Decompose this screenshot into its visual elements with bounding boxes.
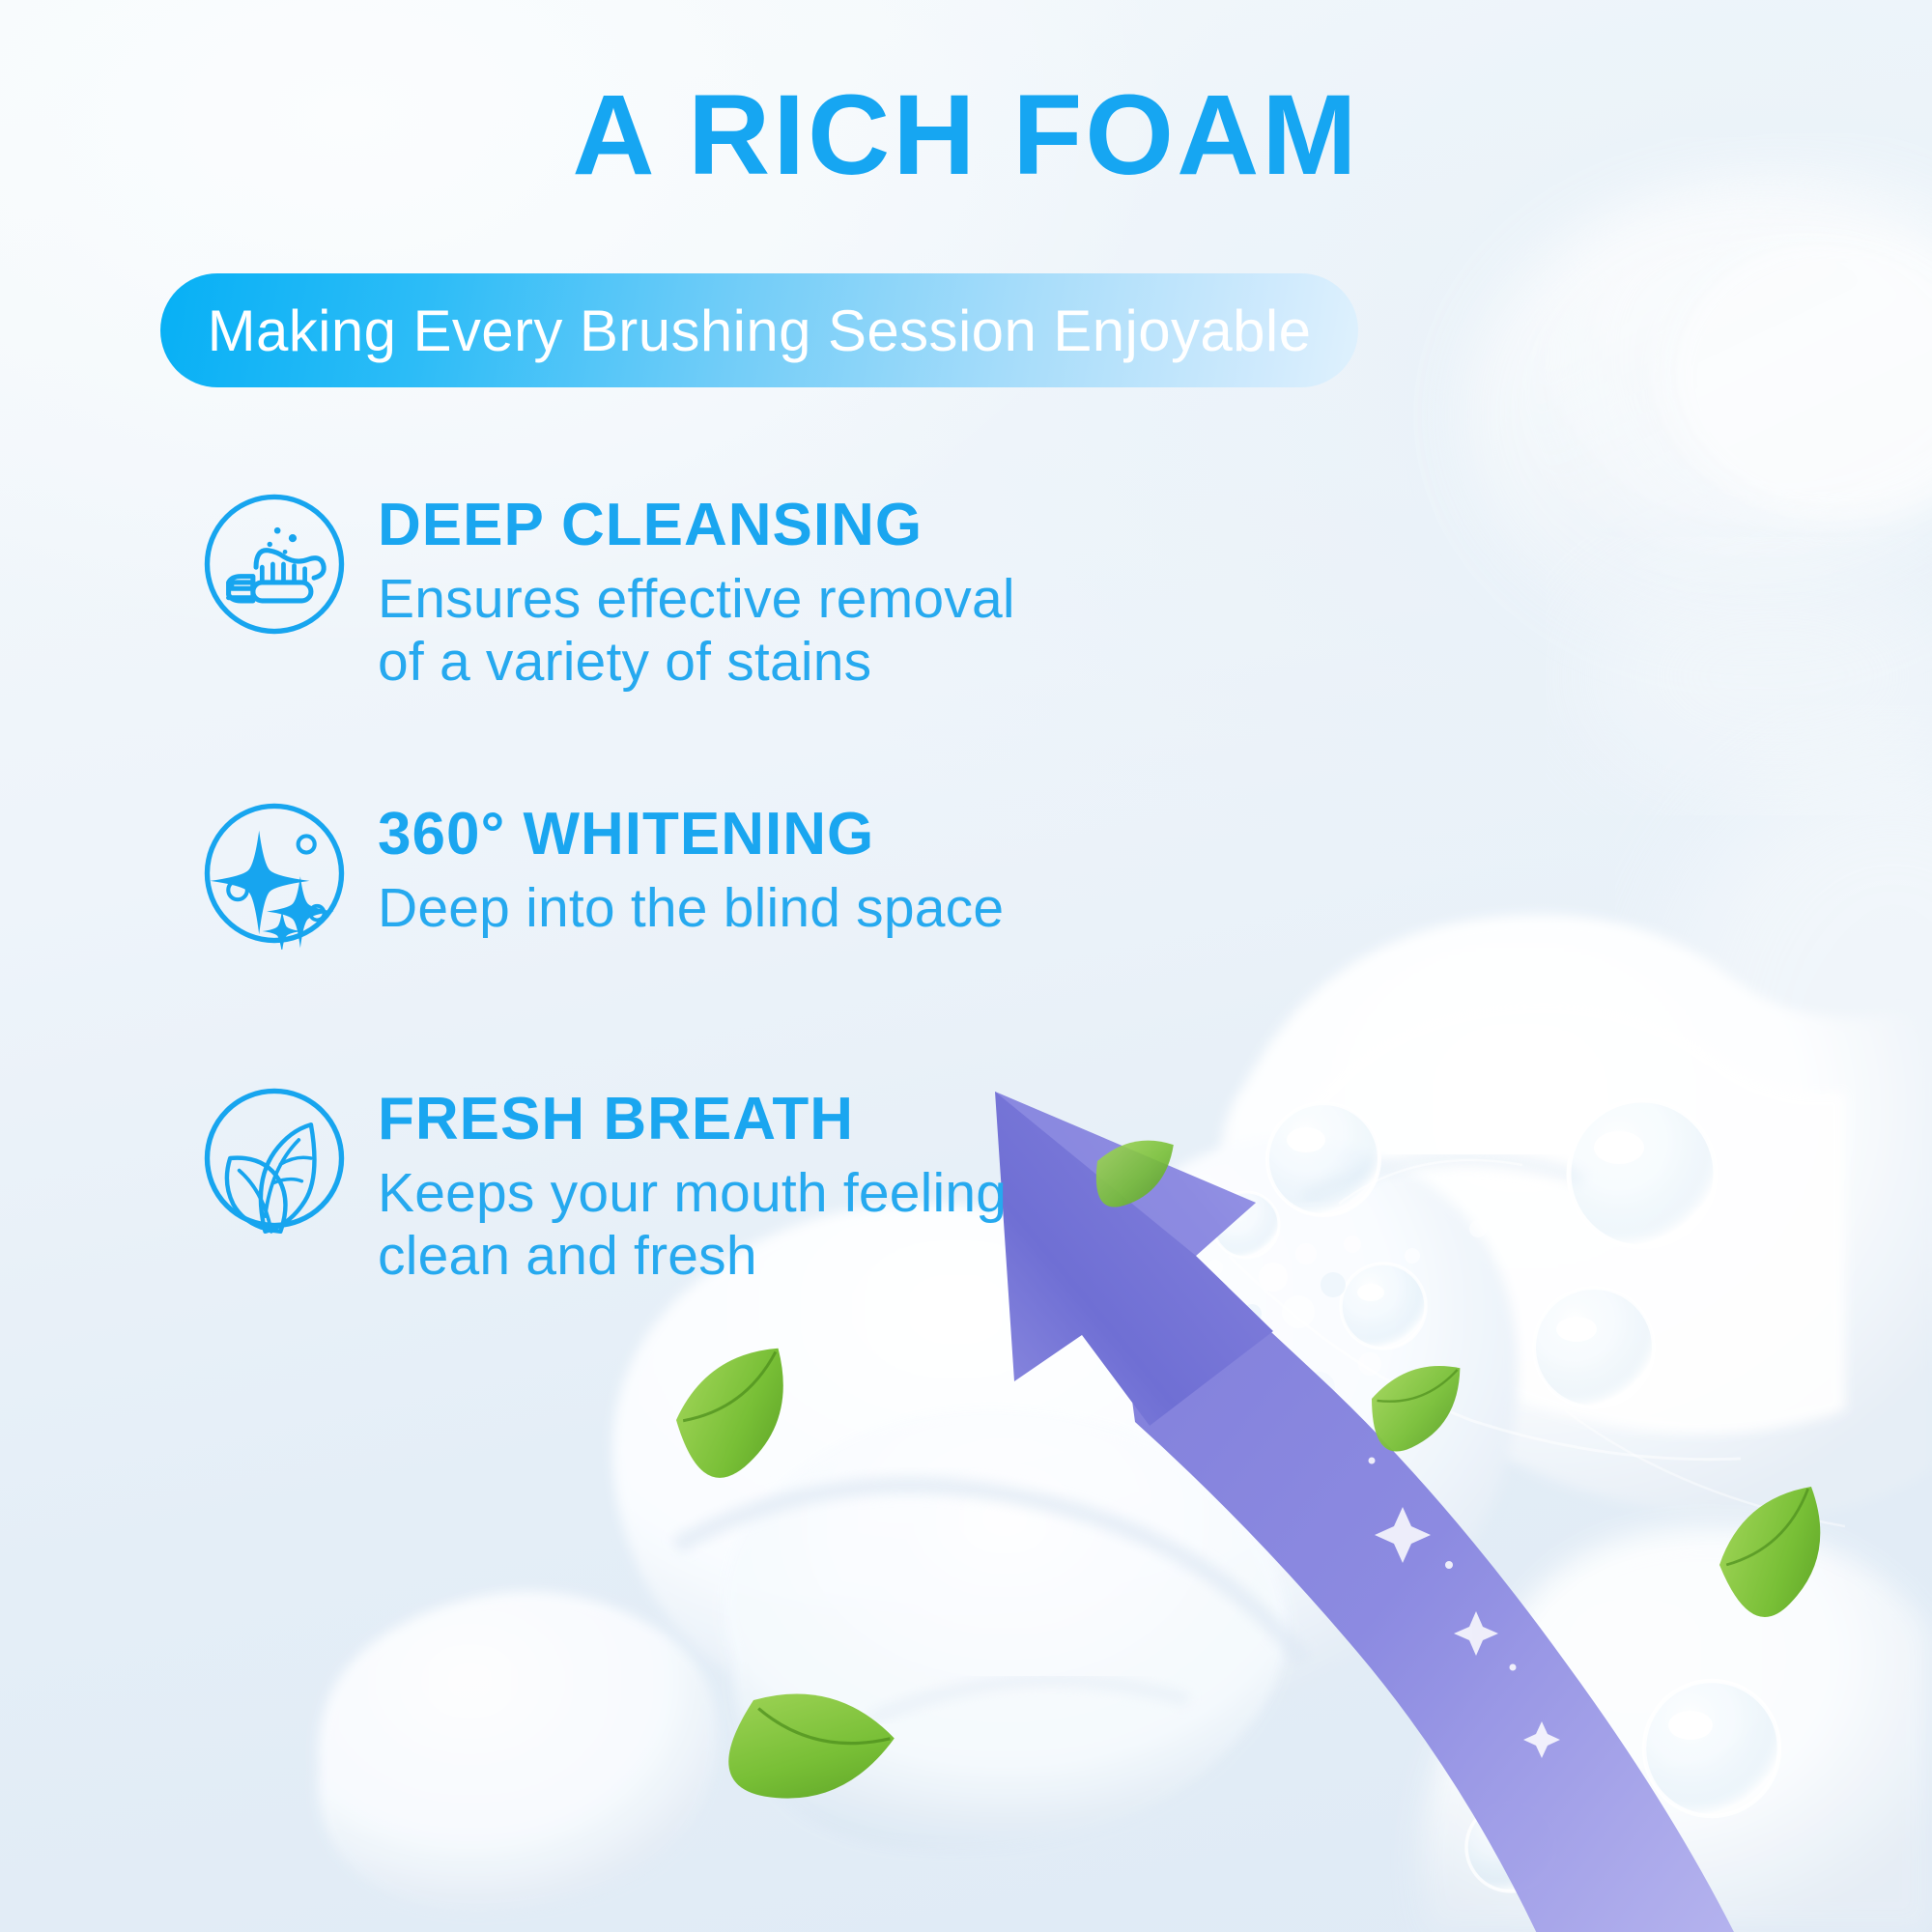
feature-heading: DEEP CLEANSING: [378, 494, 1015, 556]
feature-text: FRESH BREATH Keeps your mouth feeling cl…: [378, 1082, 1007, 1287]
feature-item: 360° WHITENING Deep into the blind space: [198, 797, 1004, 950]
feature-list: DEEP CLEANSING Ensures effective removal…: [0, 0, 1932, 1932]
feature-text: 360° WHITENING Deep into the blind space: [378, 797, 1004, 940]
feature-text: DEEP CLEANSING Ensures effective removal…: [378, 488, 1015, 693]
feature-body-line: clean and fresh: [378, 1225, 1007, 1287]
feature-body: Deep into the blind space: [378, 877, 1004, 939]
infographic-canvas: A RICH FOAM Making Every Brushing Sessio…: [0, 0, 1932, 1932]
feature-body-line: Ensures effective removal: [378, 568, 1015, 630]
feature-body-line: Deep into the blind space: [378, 877, 1004, 939]
sparkle-shine-icon: [198, 797, 351, 950]
feature-item: FRESH BREATH Keeps your mouth feeling cl…: [198, 1082, 1007, 1287]
feature-body-line: of a variety of stains: [378, 631, 1015, 693]
feature-body: Ensures effective removal of a variety o…: [378, 568, 1015, 693]
feature-heading: 360° WHITENING: [378, 803, 1004, 866]
toothbrush-paste-icon: [198, 488, 351, 640]
feature-item: DEEP CLEANSING Ensures effective removal…: [198, 488, 1015, 693]
mint-leaves-icon: [198, 1082, 351, 1235]
feature-body-line: Keeps your mouth feeling: [378, 1162, 1007, 1224]
feature-heading: FRESH BREATH: [378, 1088, 1007, 1151]
feature-body: Keeps your mouth feeling clean and fresh: [378, 1162, 1007, 1287]
